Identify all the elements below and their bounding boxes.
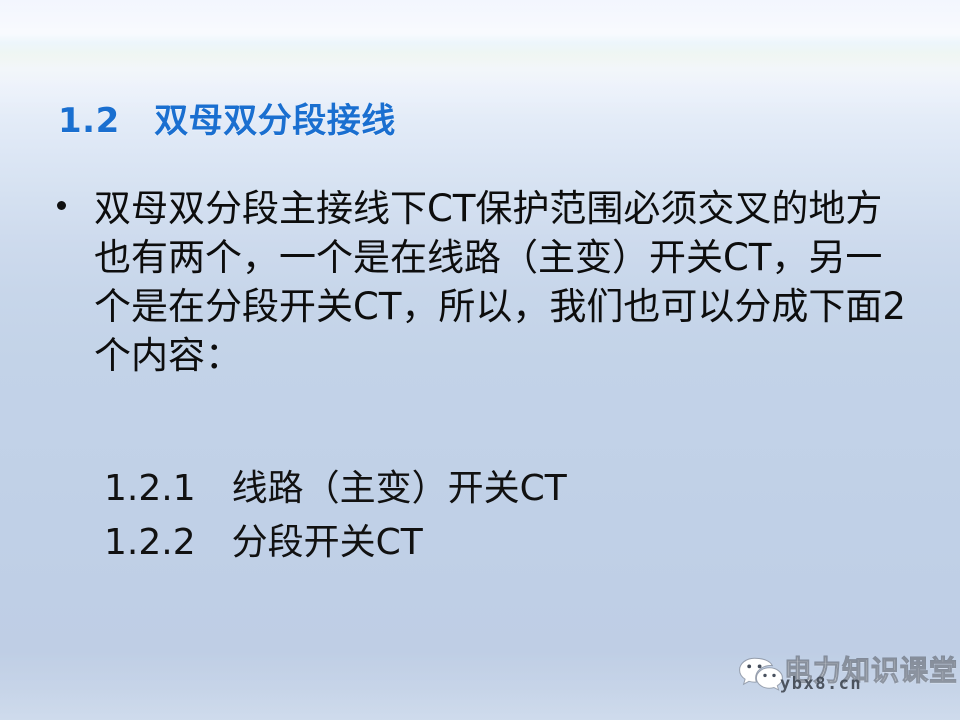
page-title: 1.2 双母双分段接线	[58, 103, 396, 140]
watermark: 电力知识课堂 ybx8.cn	[738, 650, 953, 704]
watermark-url-text: ybx8.cn	[780, 674, 862, 694]
wechat-logo-icon	[738, 656, 784, 692]
sub-item-1-2-1: 1.2.1 线路（主变）开关CT	[104, 462, 567, 516]
sub-item-list: 1.2.1 线路（主变）开关CT 1.2.2 分段开关CT	[104, 462, 567, 570]
slide-canvas: 1.2 双母双分段接线 双母双分段主接线下CT保护范围必须交叉的地方也有两个，一…	[0, 0, 960, 720]
sub-item-1-2-2: 1.2.2 分段开关CT	[104, 516, 567, 570]
bullet-list-item: 双母双分段主接线下CT保护范围必须交叉的地方也有两个，一个是在线路（主变）开关C…	[52, 184, 912, 380]
body-content: 双母双分段主接线下CT保护范围必须交叉的地方也有两个，一个是在线路（主变）开关C…	[52, 184, 912, 380]
bullet-dot-icon	[57, 201, 66, 210]
bullet-paragraph-text: 双母双分段主接线下CT保护范围必须交叉的地方也有两个，一个是在线路（主变）开关C…	[94, 184, 912, 380]
